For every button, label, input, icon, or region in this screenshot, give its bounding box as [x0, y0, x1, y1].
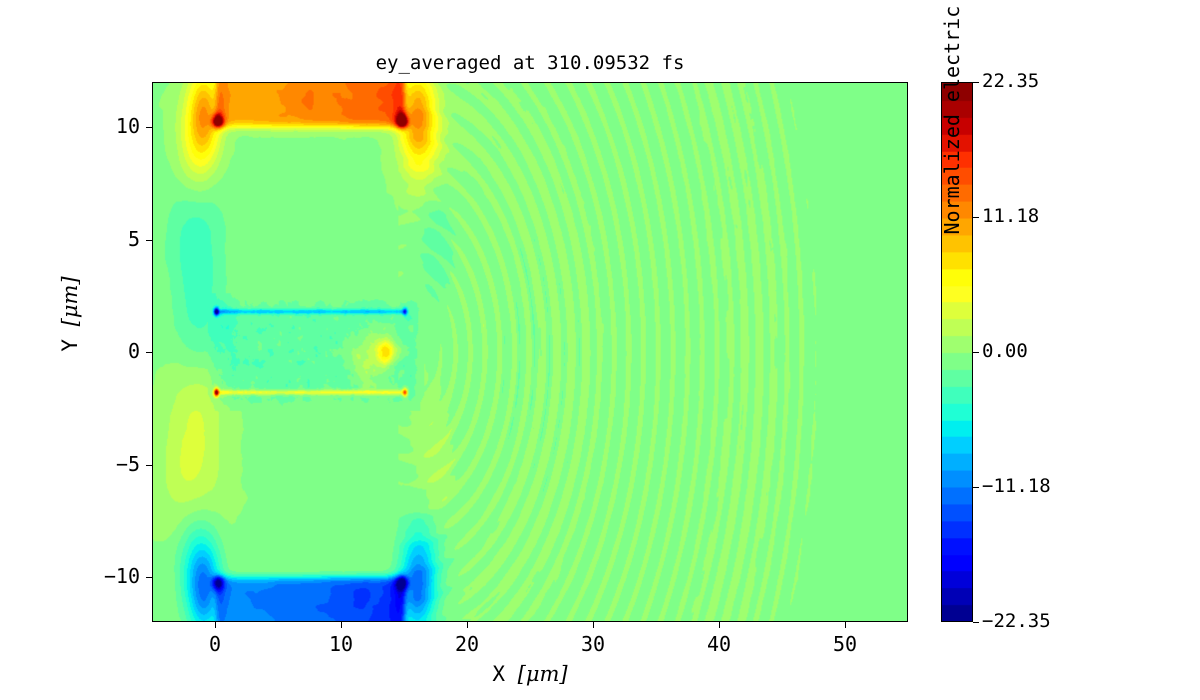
y-axis-label: Y [μm] [58, 184, 82, 444]
y-tick-label: 10 [56, 114, 140, 138]
x-tick-mark [215, 622, 216, 628]
x-tick-mark [467, 622, 468, 628]
x-tick-label: 0 [175, 632, 255, 656]
colorbar-tick-label: −11.18 [982, 475, 1051, 497]
colorbar-tick-label: 22.35 [982, 70, 1039, 92]
colorbar-label: Normalized electric field [940, 0, 964, 364]
x-tick-label: 10 [301, 632, 381, 656]
x-tick-mark [845, 622, 846, 628]
field-heatmap-canvas [153, 83, 907, 621]
x-axis-label-units: [μm] [518, 662, 568, 686]
matplotlib-figure: ey_averaged at 310.09532 fs 01020304050 … [0, 0, 1200, 700]
y-tick-mark [146, 127, 152, 128]
x-tick-label: 20 [427, 632, 507, 656]
y-tick-mark [146, 577, 152, 578]
colorbar-tick-label: −22.35 [982, 610, 1051, 632]
y-tick-label: −5 [56, 452, 140, 476]
colorbar-tick-mark [973, 622, 979, 623]
colorbar-tick-label: 11.18 [982, 205, 1039, 227]
x-tick-mark [719, 622, 720, 628]
x-axis-label-text: X [492, 662, 505, 686]
colorbar-tick-mark [973, 487, 979, 488]
colorbar-tick-mark [973, 217, 979, 218]
x-tick-label: 40 [679, 632, 759, 656]
colorbar-tick-mark [973, 82, 979, 83]
y-tick-label: −10 [56, 564, 140, 588]
y-axis-label-units: [μm] [58, 276, 82, 326]
x-tick-label: 50 [805, 632, 885, 656]
x-axis-label: X [μm] [152, 662, 908, 686]
x-tick-mark [341, 622, 342, 628]
page-title: ey_averaged at 310.09532 fs [152, 52, 908, 74]
y-tick-mark [146, 465, 152, 466]
y-tick-mark [146, 240, 152, 241]
heatmap-axes [152, 82, 908, 622]
colorbar-tick-label: 0.00 [982, 340, 1028, 362]
x-tick-mark [593, 622, 594, 628]
colorbar-tick-mark [973, 352, 979, 353]
y-tick-mark [146, 352, 152, 353]
y-axis-label-text: Y [58, 339, 82, 352]
x-tick-label: 30 [553, 632, 633, 656]
